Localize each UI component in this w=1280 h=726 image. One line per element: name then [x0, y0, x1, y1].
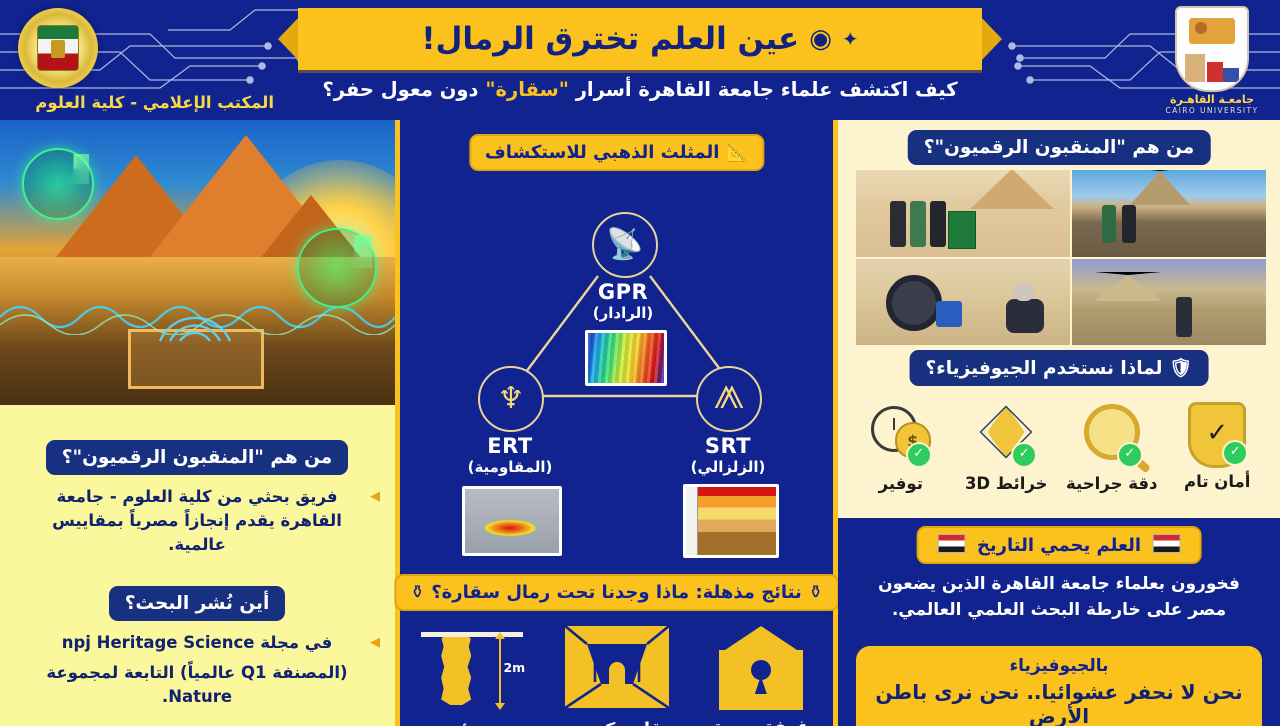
amphora-vase-icon-2: ⚱ — [410, 582, 425, 603]
green-check-badge-2: ✓ — [1117, 442, 1143, 468]
left-section-publication: أين نُشر البحث؟ ◀ في مجلة npj Heritage S… — [14, 586, 380, 709]
quote-line-1: بالجيوفيزياء — [868, 656, 1250, 676]
result-label-great-hall: قاعة كبرى — [552, 720, 682, 726]
benefit-item-savings: ✓ توفير — [851, 402, 951, 493]
publication-line-1-row: ◀ في مجلة npj Heritage Science — [14, 631, 380, 655]
publication-ranking: (المصنفة Q1 عالمياً) التابعة لمجموعة Nat… — [46, 663, 347, 706]
result-item-secret-room: غرفة سرية — [696, 626, 826, 726]
field-photo-grid — [854, 168, 1268, 347]
golden-triangle-title-text: المثلث الذهبي للاستكشاف — [485, 142, 720, 163]
eye-icon: ◉ — [809, 24, 832, 54]
radar-sweep-icon-2 — [297, 228, 377, 308]
benefit-label-savings: توفير — [851, 474, 951, 493]
who-are-digital-excavators-heading: من هم "المنقبون الرقميون"؟ — [46, 440, 349, 475]
poster-subtitle: كيف اكتشف علماء جامعة القاهرة أسرار "سقا… — [284, 78, 996, 101]
results-title-text: نتائج مذهلة: ماذا وجدنا تحت رمال سقارة؟ — [431, 582, 802, 603]
equipment-cable-reel-photo — [856, 259, 1070, 346]
protect-heading: العلم يحمي التاريخ — [917, 526, 1202, 564]
golden-triangle-diagram: 📡 GPR (الرادار) ♆ ERT (المقاومية) ⨇ — [400, 180, 833, 560]
gpr-radargram-thumbnail — [585, 330, 667, 386]
pyramids-radar-illustration — [0, 120, 395, 405]
srt-seismic-section-thumbnail — [683, 484, 779, 558]
node-gpr-name: GPR — [563, 280, 683, 304]
protect-title-text: العلم يحمي التاريخ — [977, 535, 1141, 556]
node-ert-name-ar: (المقاومية) — [448, 458, 572, 476]
where-published-heading: أين نُشر البحث؟ — [109, 586, 286, 621]
benefit-label-precision: دقة جراحية — [1062, 474, 1162, 493]
closing-quote-card: بالجيوفيزياء نحن لا نحفر عشوائيا.. نحن ن… — [856, 646, 1262, 726]
protect-body-text: فخورون بعلماء جامعة القاهرة الذين يضعون … — [862, 572, 1256, 623]
right-who-heading: من هم "المنقبون الرقميون"؟ — [908, 130, 1211, 165]
left-column: من هم "المنقبون الرقميون"؟ ◀ فريق بحثي م… — [0, 120, 395, 726]
egypt-flag-icon-left — [938, 534, 966, 553]
cairo-university-logo: جامعـة القاهـرة CAIRO UNIVERSITY — [1152, 6, 1272, 116]
result-item-vertical-shaft: 2m ممر رأسي (Shaft) — [407, 626, 537, 726]
radar-sweep-icon-1 — [22, 148, 94, 220]
results-title-wrap: ⚱ نتائج مذهلة: ماذا وجدنا تحت رمال سقارة… — [394, 574, 839, 611]
field-team-laptop-photo — [1072, 170, 1266, 257]
why-geophysics-title-wrap: 🛡 لماذا نستخدم الجيوفيزياء؟ — [910, 350, 1209, 386]
ert-resistivity-thumbnail — [462, 486, 562, 556]
electrodes-icon: ♆ — [498, 384, 525, 414]
benefit-label-3d-maps: خرائط 3D — [956, 474, 1056, 493]
shaft-depth-value: 2m — [503, 660, 525, 675]
media-office-caption: المكتب الإعلامي - كلية العلوم — [24, 93, 274, 112]
why-geophysics-heading: 🛡 لماذا نستخدم الجيوفيزياء؟ — [910, 350, 1209, 386]
cairo-university-name-ar: جامعـة القاهـرة — [1152, 93, 1272, 106]
faculty-seal-icon — [18, 8, 98, 88]
node-srt[interactable]: ⨇ — [696, 366, 762, 432]
shield-icon: 🛡 — [1169, 358, 1193, 379]
benefits-row: ✓ أمان تام ✓ دقة جراحية ✓ خرائط 3D — [848, 402, 1270, 493]
publication-line-2-row: (المصنفة Q1 عالمياً) التابعة لمجموعة Nat… — [14, 661, 380, 709]
amphora-vase-icon: ⚱ — [808, 582, 823, 603]
right-title-wrap: من هم "المنقبون الرقميون"؟ — [908, 130, 1211, 165]
subtitle-part-1: كيف اكتشف علماء جامعة القاهرة أسرار — [569, 78, 958, 101]
cairo-university-crest-icon — [1175, 6, 1249, 92]
great-hall-icon — [565, 626, 669, 708]
node-ert-name: ERT — [448, 434, 572, 458]
node-gpr-name-ar: (الرادار) — [563, 304, 683, 322]
result-label-secret-room: غرفة سرية — [696, 718, 826, 726]
middle-column: 📐 المثلث الذهبي للاستكشاف 📡 GPR (الرادار… — [395, 120, 838, 726]
science-faculty-media-office-logo: المكتب الإعلامي - كلية العلوم — [6, 4, 276, 116]
egypt-flag-icon-right — [1152, 534, 1180, 553]
results-heading: ⚱ نتائج مذهلة: ماذا وجدنا تحت رمال سقارة… — [394, 574, 839, 611]
node-ert-label: ERT (المقاومية) — [448, 434, 572, 476]
subtitle-highlight: "سقارة" — [485, 78, 569, 101]
left-section-who: من هم "المنقبون الرقميون"؟ ◀ فريق بحثي م… — [14, 440, 380, 557]
gpr-pulse-arcs — [120, 269, 270, 349]
bullet-arrow-icon: ◀ — [370, 488, 380, 507]
node-srt-name: SRT — [666, 434, 790, 458]
header-bar: المكتب الإعلامي - كلية العلوم ✦ ◉ عين ال… — [0, 0, 1280, 120]
golden-triangle-heading: 📐 المثلث الذهبي للاستكشاف — [469, 134, 764, 171]
team-with-green-instrument-photo — [856, 170, 1070, 257]
result-item-great-hall: قاعة كبرى — [552, 626, 682, 726]
sparkles-icon: ✦ — [842, 27, 859, 51]
benefit-item-safety: ✓ أمان تام — [1167, 402, 1267, 493]
vertical-shaft-icon: 2m — [417, 626, 527, 718]
node-ert[interactable]: ♆ — [478, 366, 544, 432]
who-body-text: فريق بحثي من كلية العلوم - جامعة القاهرة… — [52, 487, 342, 554]
green-check-badge-3: ✓ — [1011, 442, 1037, 468]
seismic-wave-icon: ⨇ — [714, 384, 744, 414]
researcher-at-excavation-photo — [1072, 259, 1266, 346]
bullet-arrow-icon-2: ◀ — [370, 634, 380, 653]
green-check-badge-4: ✓ — [906, 442, 932, 468]
science-protects-history-panel: العلم يحمي التاريخ فخورون بعلماء جامعة ا… — [838, 518, 1280, 726]
who-are-digital-excavators-body: ◀ فريق بحثي من كلية العلوم - جامعة القاه… — [14, 485, 380, 557]
benefit-item-precision: ✓ دقة جراحية — [1062, 402, 1162, 493]
right-column: من هم "المنقبون الرقميون"؟ — [838, 120, 1280, 726]
green-check-badge-1: ✓ — [1222, 440, 1248, 466]
poster-title: عين العلم تخترق الرمال! — [421, 24, 799, 55]
node-gpr-label: GPR (الرادار) — [563, 280, 683, 322]
node-srt-label: SRT (الزلزالي) — [666, 434, 790, 476]
node-gpr[interactable]: 📡 — [592, 212, 658, 278]
publication-journal: في مجلة npj Heritage Science — [62, 633, 333, 652]
cairo-university-name-en: CAIRO UNIVERSITY — [1152, 106, 1272, 115]
quote-line-2: نحن لا نحفر عشوائيا.. نحن نرى باطن الأرض — [868, 680, 1250, 726]
why-geophysics-title-text: لماذا نستخدم الجيوفيزياء؟ — [926, 358, 1163, 379]
golden-triangle-title-wrap: 📐 المثلث الذهبي للاستكشاف — [469, 134, 764, 171]
subtitle-part-2: دون معول حفر؟ — [322, 78, 485, 101]
secret-room-keyhole-icon — [719, 626, 803, 710]
protect-title-wrap: العلم يحمي التاريخ — [917, 526, 1202, 564]
infographic-poster: المكتب الإعلامي - كلية العلوم ✦ ◉ عين ال… — [0, 0, 1280, 726]
results-row: غرفة سرية قاعة كبرى — [400, 626, 833, 726]
title-ribbon: ✦ ◉ عين العلم تخترق الرمال! — [284, 8, 996, 70]
benefit-label-safety: أمان تام — [1167, 472, 1267, 491]
antenna-tower-icon: 📡 — [606, 230, 643, 260]
ruler-triangle-icon: 📐 — [726, 142, 748, 163]
node-srt-name-ar: (الزلزالي) — [666, 458, 790, 476]
benefit-item-3d-maps: ✓ خرائط 3D — [956, 402, 1056, 493]
